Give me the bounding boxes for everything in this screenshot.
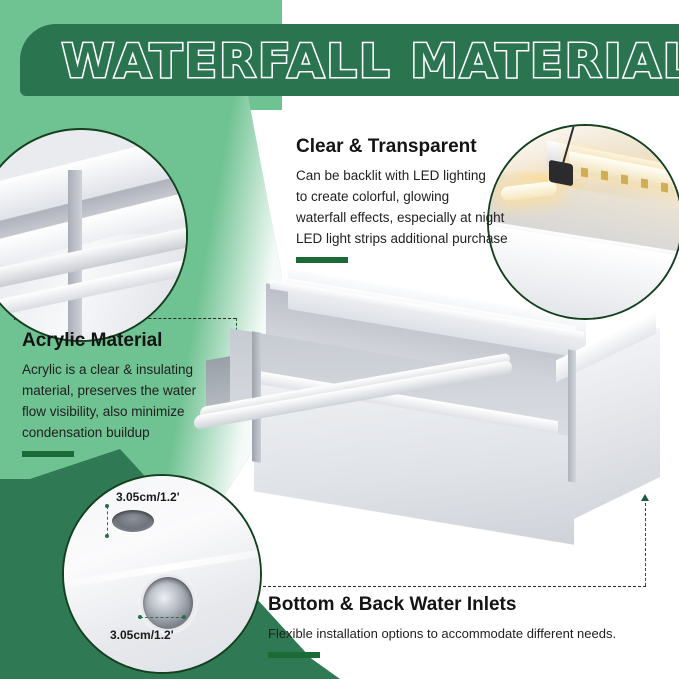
callout-acrylic-line-3: flow visibility, also minimize bbox=[22, 401, 196, 422]
inlet-hole-bottom bbox=[140, 574, 196, 632]
inlet-hole-back bbox=[112, 510, 154, 532]
callout-inlets-title: Bottom & Back Water Inlets bbox=[268, 594, 616, 616]
page-title: WATERFALL MATERIAL bbox=[56, 32, 679, 90]
callout-acrylic-underline-bar bbox=[22, 451, 74, 457]
led-inset-diode-4 bbox=[641, 178, 648, 188]
callout-clear-title: Clear & Transparent bbox=[296, 136, 508, 158]
callout-acrylic-line-4: condensation buildup bbox=[22, 422, 196, 443]
callout-clear-line-2: to create colorful, glowing bbox=[296, 186, 508, 207]
connector-inlets-horizontal bbox=[258, 586, 646, 587]
measure-dot-top-end bbox=[105, 534, 109, 538]
callout-inlets-underline-bar bbox=[268, 652, 320, 658]
measure-line-top-inlet bbox=[107, 506, 108, 536]
callout-clear-line-1: Can be backlit with LED lighting bbox=[296, 165, 508, 186]
callout-acrylic-title: Acrylic Material bbox=[22, 330, 196, 352]
led-inset-diode-3 bbox=[621, 174, 628, 184]
measure-dot-top-start bbox=[105, 504, 109, 508]
measure-line-bottom-inlet bbox=[140, 617, 184, 618]
inset-acrylic-material-closeup bbox=[0, 128, 188, 342]
led-inset-diode-5 bbox=[661, 182, 668, 192]
measure-dot-bottom-start bbox=[138, 615, 142, 619]
led-inset-diode-1 bbox=[581, 167, 588, 177]
callout-bottom-back-water-inlets: Bottom & Back Water Inlets Flexible inst… bbox=[268, 594, 616, 658]
callout-acrylic-material: Acrylic Material Acrylic is a clear & in… bbox=[22, 330, 196, 457]
led-inset-diode-2 bbox=[601, 170, 608, 180]
callout-acrylic-line-1: Acrylic is a clear & insulating bbox=[22, 359, 196, 380]
callout-acrylic-line-2: material, preserves the water bbox=[22, 380, 196, 401]
callout-clear-line-3: waterfall effects, especially at night bbox=[296, 207, 508, 228]
measure-label-top-inlet: 3.05cm/1.2' bbox=[116, 490, 180, 504]
infographic-canvas: WATERFALL MATERIAL bbox=[0, 0, 679, 679]
measure-label-bottom-inlet: 3.05cm/1.2' bbox=[110, 628, 174, 642]
measure-dot-bottom-end bbox=[182, 615, 186, 619]
callout-clear-underline-bar bbox=[296, 257, 348, 263]
inset-led-strip-closeup bbox=[487, 124, 679, 320]
callout-clear-transparent: Clear & Transparent Can be backlit with … bbox=[296, 136, 508, 263]
callout-clear-line-4: LED light strips additional purchase bbox=[296, 228, 508, 249]
inset-water-inlets-closeup bbox=[62, 474, 262, 674]
product-right-edge bbox=[568, 349, 576, 482]
product-render-waterfall-spillway bbox=[196, 288, 676, 538]
callout-inlets-line-1: Flexible installation options to accommo… bbox=[268, 623, 616, 644]
